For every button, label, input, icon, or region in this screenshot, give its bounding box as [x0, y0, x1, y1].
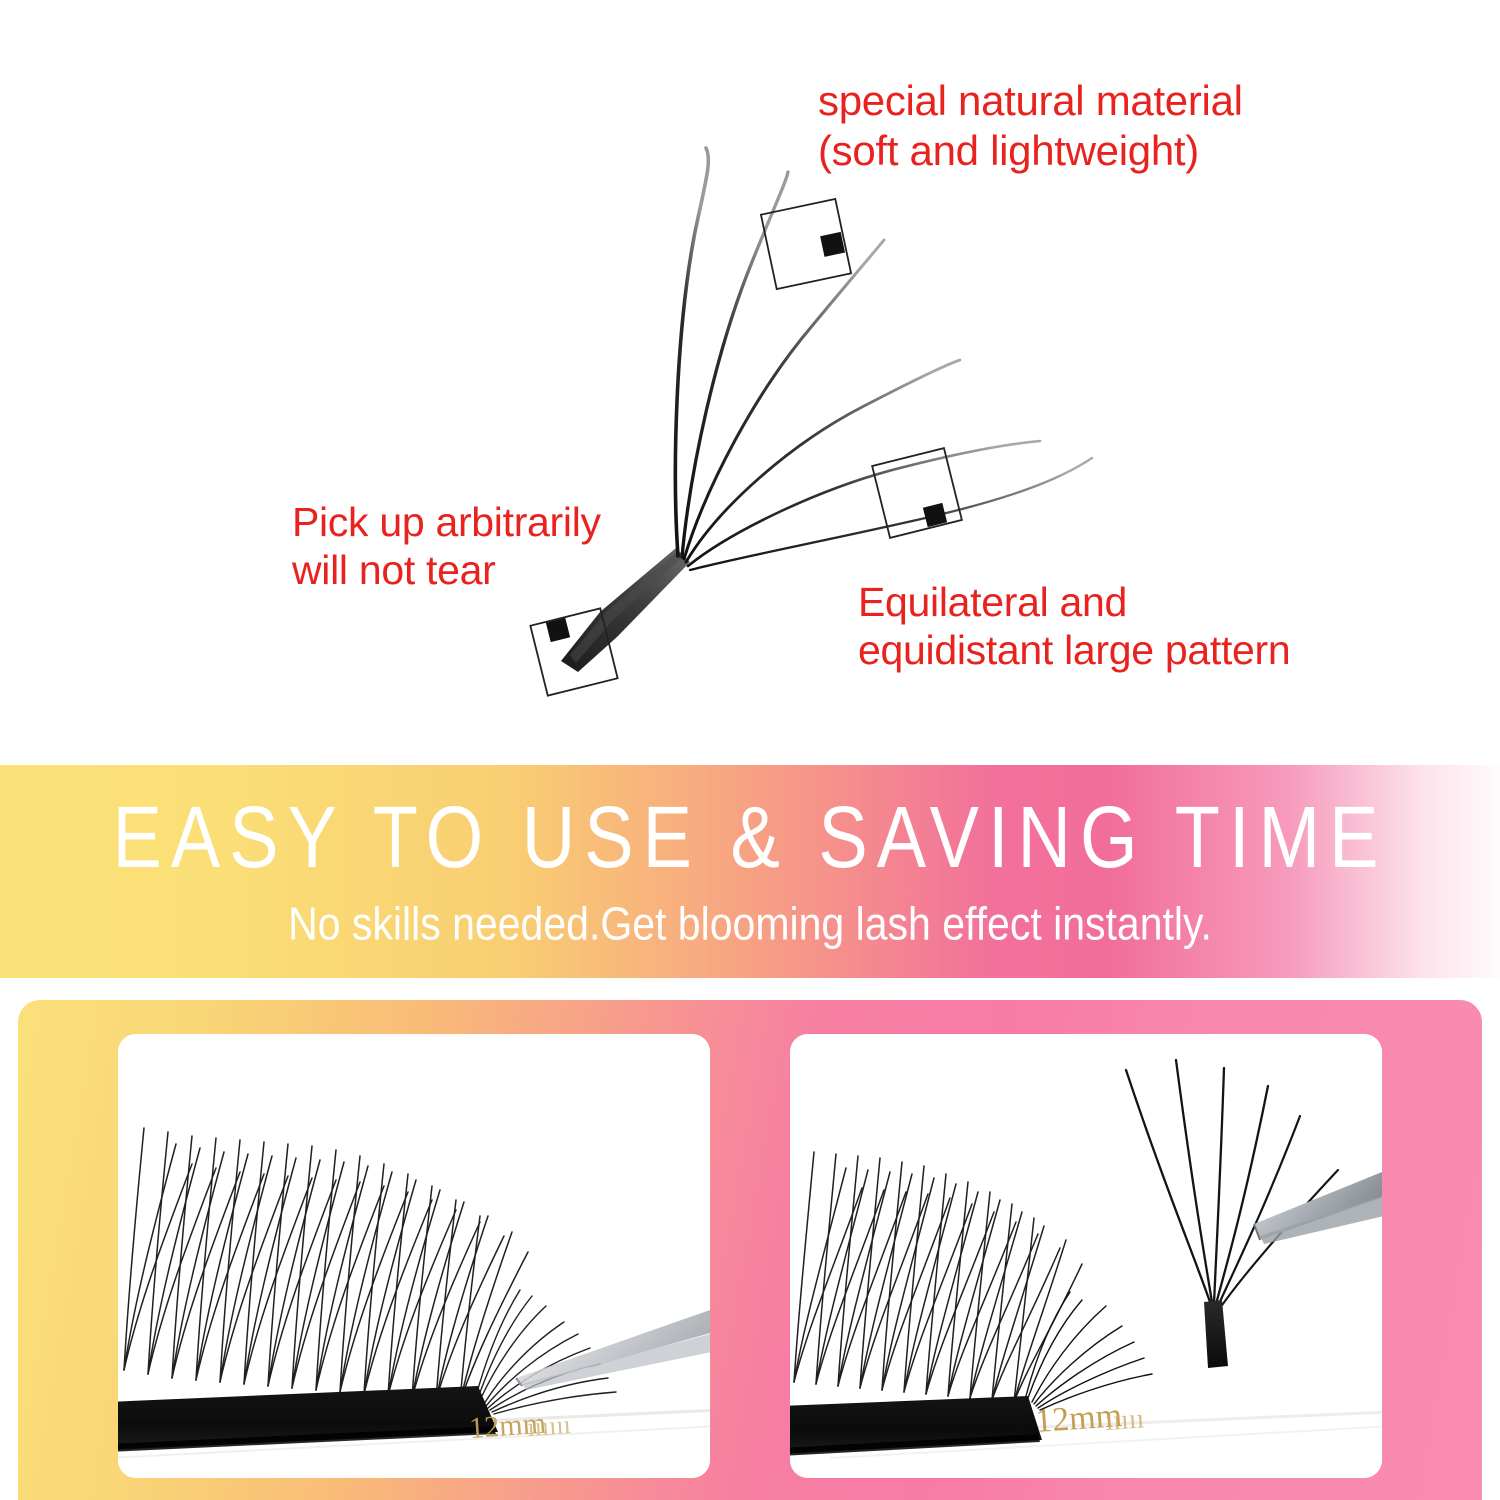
diagram-section: special natural material (soft and light…	[0, 0, 1500, 765]
photo-single-fan-held-by-tweezers: 12mm ııııı	[790, 1034, 1382, 1478]
photo-card-single-fan: 12mm ııııı	[790, 1034, 1382, 1478]
marker-middle-icon	[872, 448, 962, 538]
callout-equilateral-equidistant: Equilateral and equidistant large patter…	[858, 578, 1290, 675]
size-label-right-echo: ııııı	[1104, 1403, 1145, 1437]
photo-card-lash-tray: 12mm ıııııı	[118, 1034, 710, 1478]
photo-lash-tray-with-tweezers: 12mm ıııııı	[118, 1034, 710, 1478]
product-photos-panel: 12mm ıııııı	[18, 1000, 1482, 1500]
callout-special-natural-material: special natural material (soft and light…	[818, 76, 1243, 175]
marker-top-icon	[761, 199, 851, 289]
banner-headline: EASY TO USE & SAVING TIME	[0, 787, 1500, 887]
banner-subheadline: No skills needed.Get blooming lash effec…	[0, 898, 1500, 951]
banner-section: EASY TO USE & SAVING TIME No skills need…	[0, 765, 1500, 978]
size-label-left-echo: ıııııı	[526, 1410, 571, 1442]
callout-pick-up-arbitrarily: Pick up arbitrarily will not tear	[292, 498, 601, 595]
lash-strands	[675, 148, 1092, 570]
